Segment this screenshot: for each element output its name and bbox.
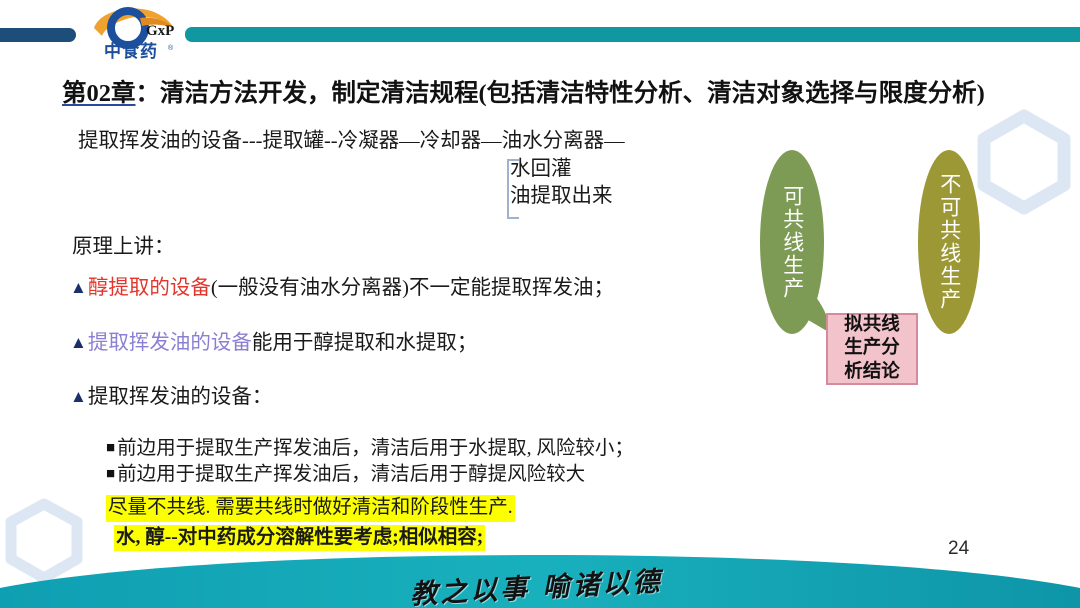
page-number: 24 [948,538,969,560]
bracket-item-1: 水回灌 [510,156,730,183]
square-bullet-icon: ■ [106,440,115,456]
svg-text:GxP: GxP [146,23,174,39]
svg-text:®: ® [168,44,174,52]
bracket-items: 水回灌 油提取出来 [510,156,730,210]
point-1-highlight: 醇提取的设备 [88,277,211,299]
brand-logo: GxP 中食药 ® [88,2,186,64]
sub-item-1-text: 前边用于提取生产挥发油后，清洁后用于水提取, 风险较小； [117,438,634,459]
logo-mark-icon: GxP 中食药 ® [88,2,186,64]
conclusion-line-2: 生产分 [844,337,900,360]
header-bar-teal [185,27,1080,42]
point-3-text: 提取挥发油的设备： [88,386,273,408]
svg-text:中食药: 中食药 [104,41,158,61]
triangle-bullet-icon: ▲ [70,333,87,352]
ellipse-can-coline: 可共线生产 [760,150,824,334]
point-1-text: (一般没有油水分离器)不一定能提取挥发油； [211,277,614,299]
bracket-group: 水回灌 油提取出来 [70,156,730,218]
conclusion-box: 拟共线 生产分 析结论 [826,313,918,385]
conclusion-line-1: 拟共线 [844,314,900,337]
sub-item-2: ■前边用于提取生产挥发油后，清洁后用于醇提风险较大 [106,462,730,488]
point-2: ▲提取挥发油的设备能用于醇提取和水提取； [70,330,730,356]
header-bar-dark [0,28,76,42]
point-3: ▲提取挥发油的设备： [70,384,730,410]
left-bracket-icon [507,159,519,219]
equipment-flow-line: 提取挥发油的设备---提取罐--冷凝器—冷却器—油水分离器— [70,128,730,154]
title-chapter: 第02章 [62,80,136,107]
hexagon-decoration-icon [972,108,1076,220]
sub-item-1: ■前边用于提取生产挥发油后，清洁后用于水提取, 风险较小； [106,436,730,462]
triangle-bullet-icon: ▲ [70,387,87,406]
point-1: ▲醇提取的设备(一般没有油水分离器)不一定能提取挥发油； [70,275,730,301]
title-rest: ：清洁方法开发，制定清洁规程(包括清洁特性分析、清洁对象选择与限度分析) [136,80,985,107]
bracket-item-2: 油提取出来 [510,183,730,210]
page-title: 第02章：清洁方法开发，制定清洁规程(包括清洁特性分析、清洁对象选择与限度分析) [62,74,1022,109]
body-content: 提取挥发油的设备---提取罐--冷凝器—冷却器—油水分离器— 水回灌 油提取出来… [70,128,730,551]
point-2-text: 能用于醇提取和水提取； [252,332,478,354]
slide-root: GxP 中食药 ® 第02章：清洁方法开发，制定清洁规程(包括清洁特性分析、清洁… [0,0,1080,608]
ellipse-cannot-coline: 不可共线生产 [918,150,980,334]
triangle-bullet-icon: ▲ [70,278,87,297]
conclusion-line-3: 析结论 [844,361,900,384]
sub-item-2-text: 前边用于提取生产挥发油后，清洁后用于醇提风险较大 [117,464,585,485]
point-2-highlight: 提取挥发油的设备 [88,332,252,354]
square-bullet-icon: ■ [106,466,115,482]
sub-list: ■前边用于提取生产挥发油后，清洁后用于水提取, 风险较小； ■前边用于提取生产挥… [70,436,730,488]
principle-label: 原理上讲： [70,234,730,260]
